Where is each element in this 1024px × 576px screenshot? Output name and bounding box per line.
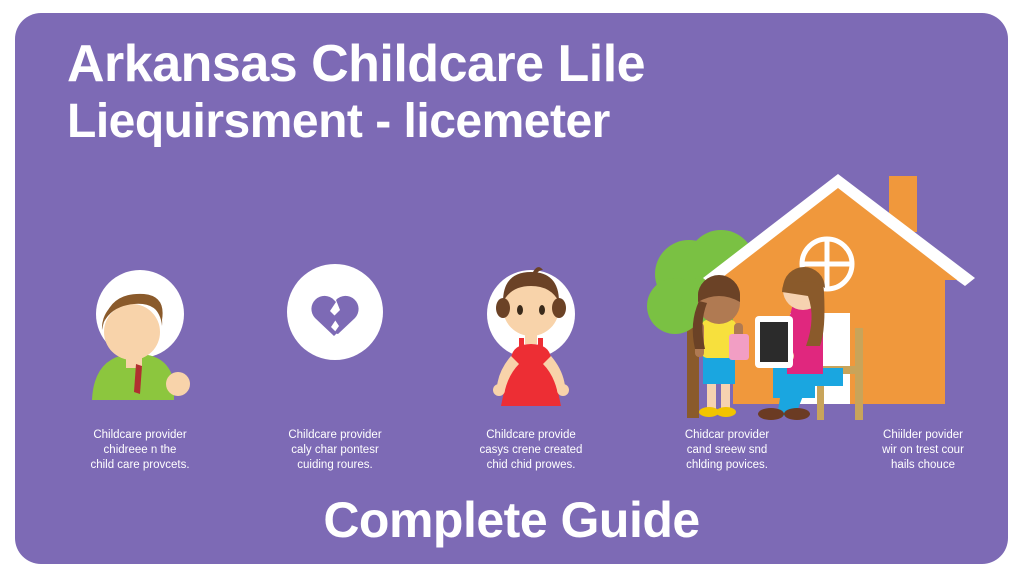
caption-line-3: child care provcets. (44, 458, 236, 473)
feature-art-1 (44, 258, 236, 410)
broken-heart-icon (287, 264, 383, 360)
purple-panel: Arkansas Childcare Lile Liequirsment - l… (15, 13, 1008, 564)
page-title-line-1: Arkansas Childcare Lile (67, 34, 827, 94)
poster-root: Arkansas Childcare Lile Liequirsment - l… (0, 0, 1024, 576)
girl-avatar-icon (465, 258, 597, 406)
caption-line-1: Childcare provider (239, 428, 431, 443)
feature-caption-2: Childcare provider caly char pontesr cui… (239, 428, 431, 473)
caption-line-2: caly char pontesr (239, 443, 431, 458)
page-title-line-2: Liequirsment - licemeter (67, 94, 827, 150)
feature-caption-3: Childcare provide casys crene created ch… (435, 428, 627, 473)
page-title: Arkansas Childcare Lile Liequirsment - l… (67, 34, 827, 150)
caption-line-3: hails chouce (827, 458, 1008, 473)
caption-line-2: wir on trest cour (827, 443, 1008, 458)
feature-art-3 (435, 258, 627, 410)
feature-art-2 (239, 258, 431, 410)
feature-cell-5: Chiilder povider wir on trest cour hails… (827, 258, 1008, 498)
bottom-title: Complete Guide (15, 491, 1008, 549)
caption-line-1: Chiilder povider (827, 428, 1008, 443)
feature-caption-4: Chidcar provider cand sreew snd chlding … (631, 428, 823, 473)
boy-avatar-icon (74, 262, 206, 402)
feature-caption-1: Childcare provider chidreee n the child … (44, 428, 236, 473)
caption-line-3: chid chid prowes. (435, 458, 627, 473)
feature-cell-2: Childcare provider caly char pontesr cui… (239, 258, 431, 498)
caption-line-1: Childcare provider (44, 428, 236, 443)
caption-line-3: chlding povices. (631, 458, 823, 473)
caption-line-2: casys crene created (435, 443, 627, 458)
caption-line-1: Childcare provide (435, 428, 627, 443)
caption-line-2: cand sreew snd (631, 443, 823, 458)
caption-line-3: cuiding roures. (239, 458, 431, 473)
feature-cell-1: Childcare provider chidreee n the child … (44, 258, 236, 498)
feature-cell-3: Childcare provide casys crene created ch… (435, 258, 627, 498)
caption-line-1: Chidcar provider (631, 428, 823, 443)
feature-caption-5: Chiilder povider wir on trest cour hails… (827, 428, 1008, 473)
feature-cell-4: Chidcar provider cand sreew snd chlding … (631, 258, 823, 498)
caption-line-2: chidreee n the (44, 443, 236, 458)
